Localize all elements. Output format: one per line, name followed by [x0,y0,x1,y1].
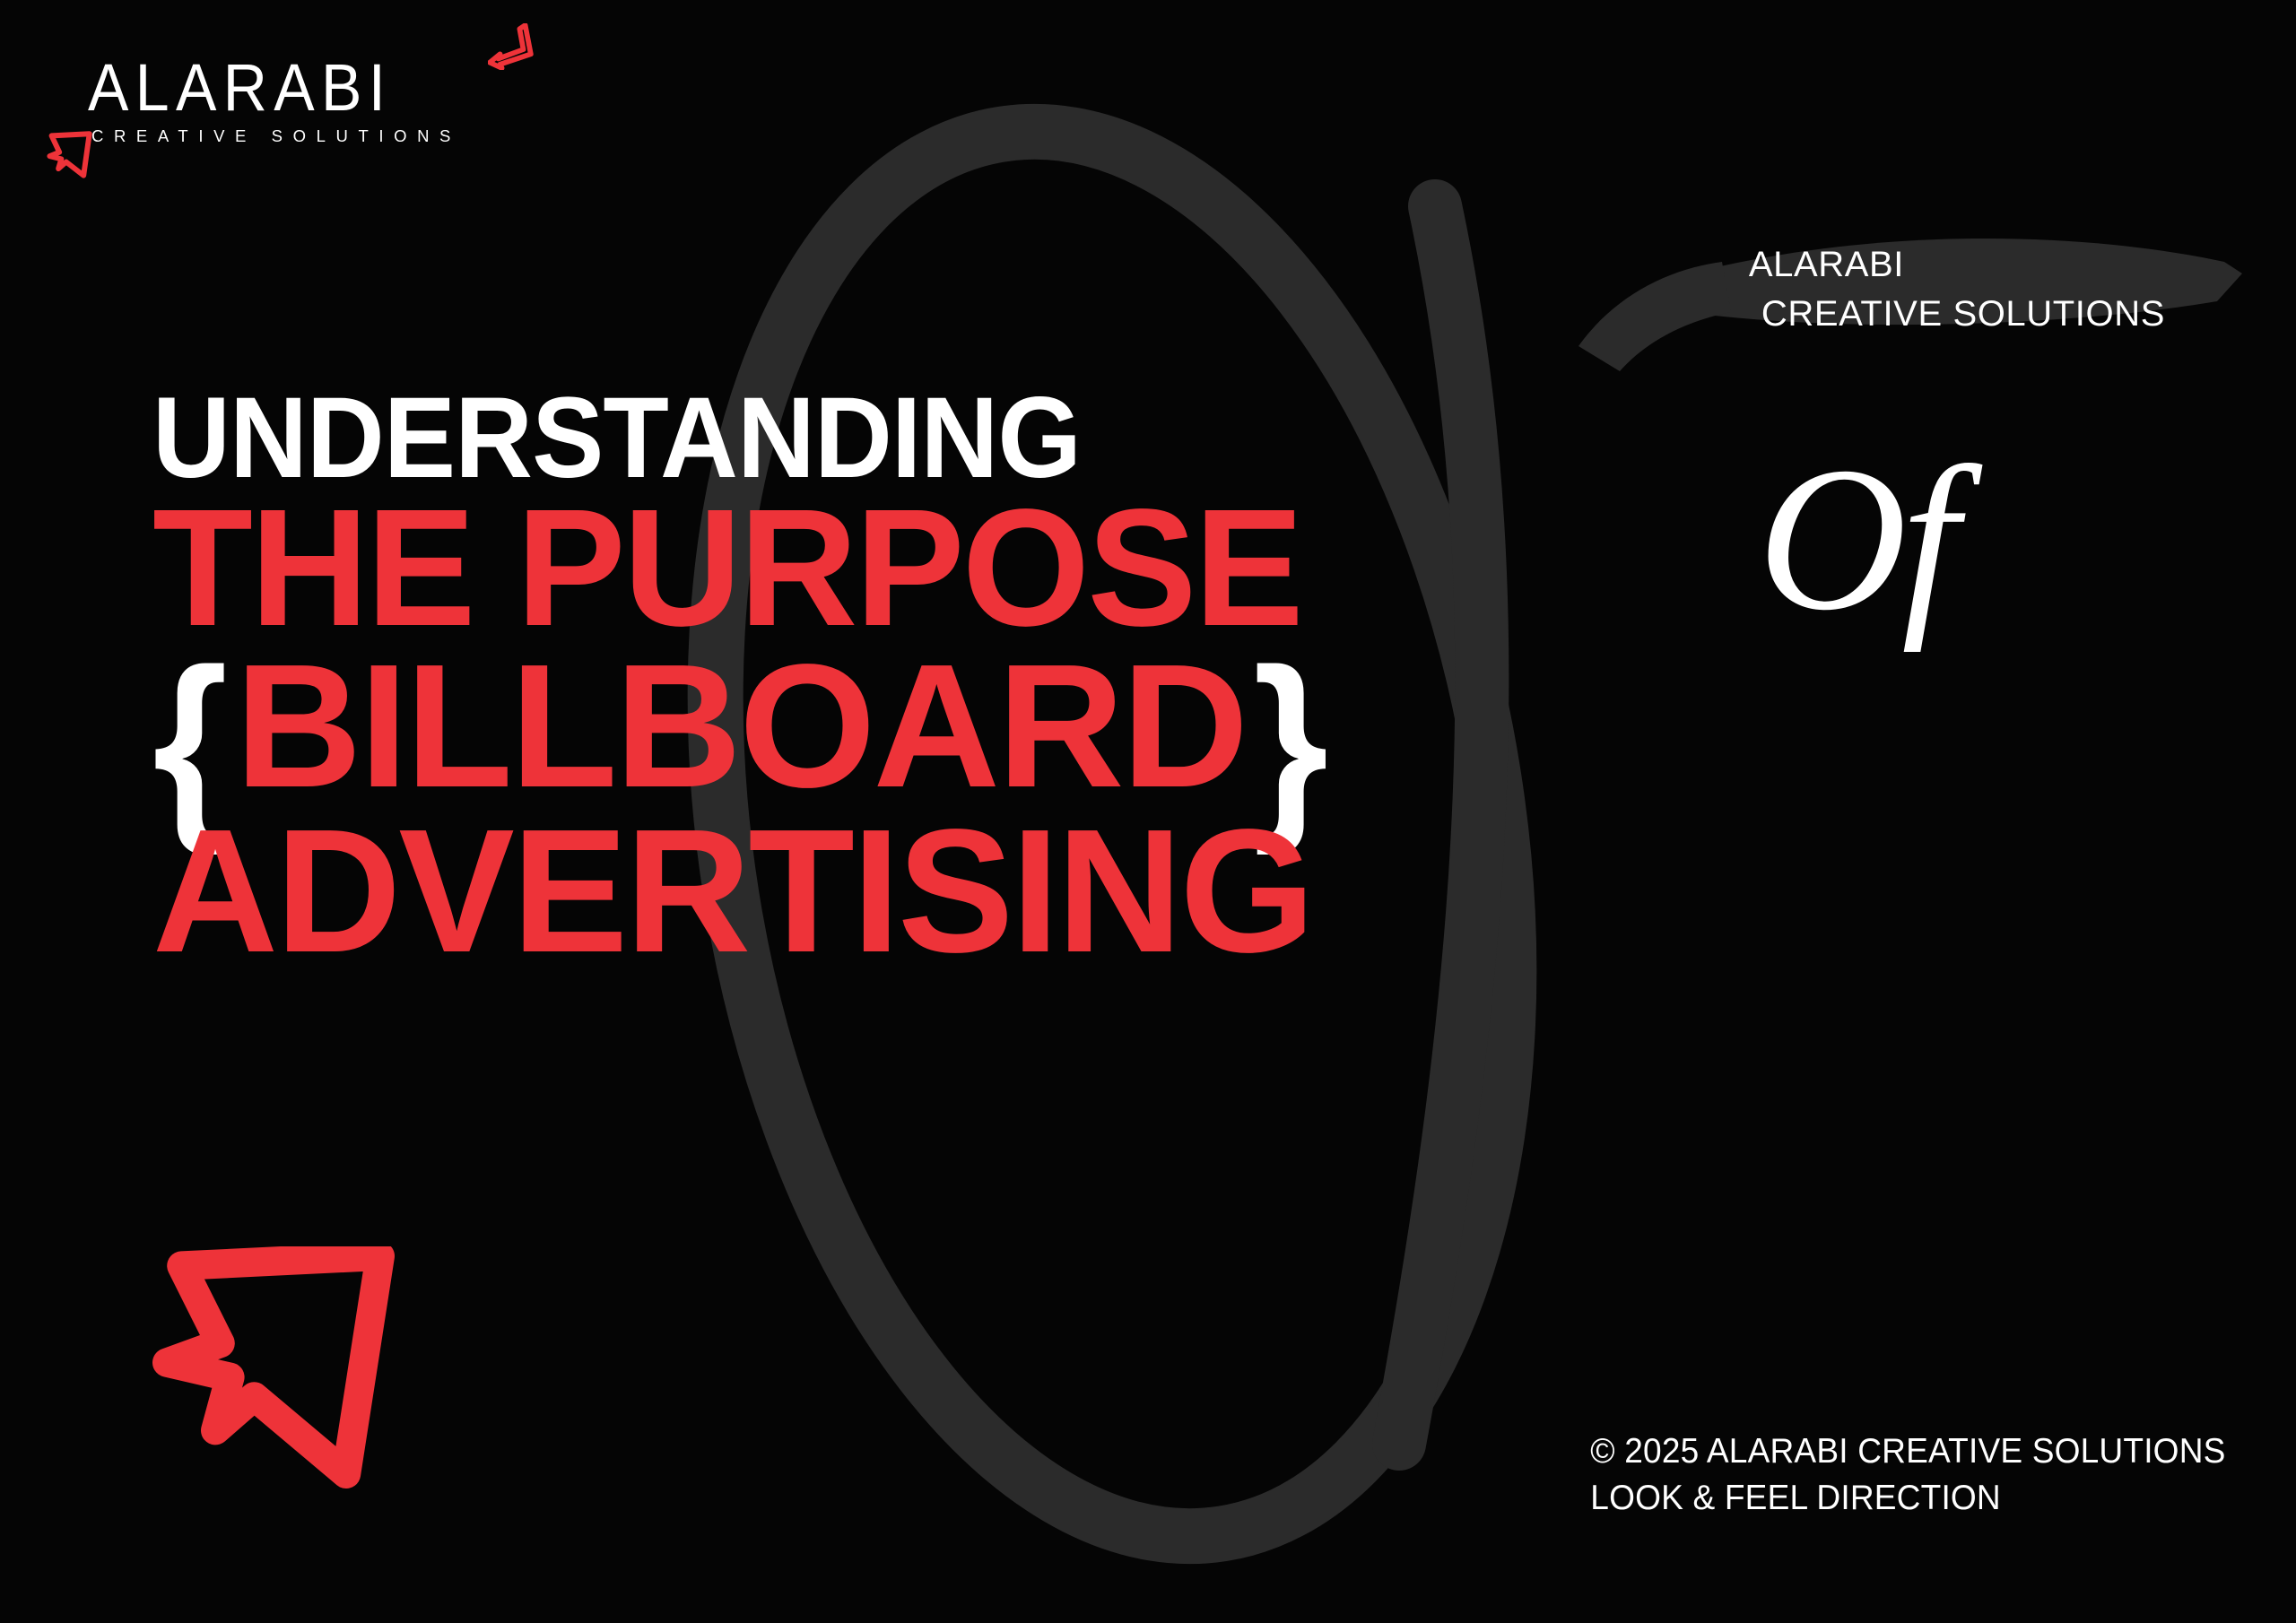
headline-advertising: ADVERTISING [152,816,1312,968]
headline-script-of: Of [1758,436,1953,642]
brand-logo[interactable]: ALARABI CREATIVE SOLUTIONS [88,56,461,146]
logo-wordmark: ALARABI [88,56,431,121]
copyright-line: © 2025 ALARABI CREATIVE SOLUTIONS [1591,1428,2226,1474]
headline-row-4: ADVERTISING [152,816,1328,968]
red-pennant-icon [488,23,535,70]
headline-the-purpose: THE PURPOSE [152,497,1301,640]
footer-credit: © 2025 ALARABI CREATIVE SOLUTIONS LOOK &… [1557,1428,2226,1521]
poster-canvas: ALARABI CREATIVE SOLUTIONS ALARABI CREAT… [0,0,2296,1623]
brand-caption: ALARABI CREATIVE SOLUTIONS [1749,240,2165,339]
direction-line: LOOK & FEEL DIRECTION [1591,1475,2226,1521]
headline-billboard: BILLBOARD [235,651,1246,803]
headline-row-2: THE PURPOSE Of [152,497,1328,647]
headline-block: UNDERSTANDING THE PURPOSE Of {BILLBOARD}… [152,386,1328,967]
logo-tagline: CREATIVE SOLUTIONS [91,126,461,146]
red-pennant-icon [45,131,93,179]
brand-caption-line-2: CREATIVE SOLUTIONS [1749,290,2165,339]
brand-caption-line-1: ALARABI [1749,240,2165,290]
headline-row-3: {BILLBOARD} [152,651,1328,811]
red-pennant-icon [143,1246,404,1488]
